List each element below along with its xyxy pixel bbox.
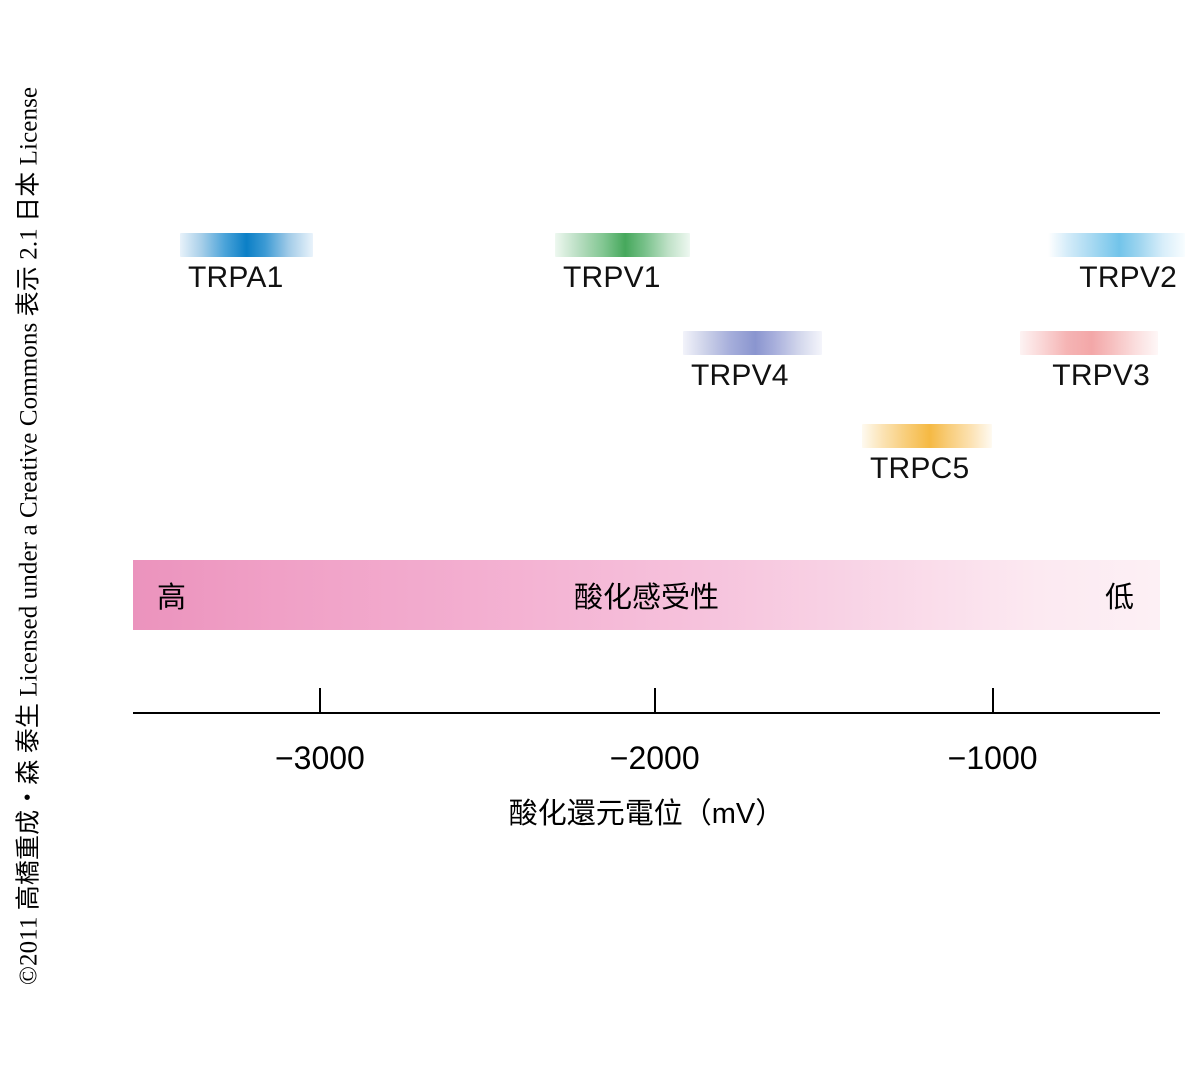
channel-label-trpa1: TRPA1 [188,261,283,295]
trp-redox-diagram: TRPA1TRPV1TRPV2TRPV4TRPV3TRPC5 高 酸化感受性 低… [0,0,1200,1072]
sensitivity-high-label: 高 [157,574,186,616]
channel-range-bar-trpv1 [555,233,690,257]
sensitivity-low-label: 低 [1105,574,1134,616]
axis-title: 酸化還元電位（mV） [133,790,1160,832]
channel-label-trpv4: TRPV4 [691,359,789,393]
axis-tick-label: −2000 [610,740,700,777]
axis-tick-label: −1000 [948,740,1038,777]
axis-tick-mark [992,688,994,714]
oxidation-sensitivity-band: 高 酸化感受性 低 [133,560,1160,630]
channel-label-trpv1: TRPV1 [563,261,661,295]
channel-label-trpv2: TRPV2 [1079,261,1177,295]
channel-label-trpc5: TRPC5 [870,452,969,486]
channel-range-bar-trpv3 [1020,331,1158,355]
channel-label-trpv3: TRPV3 [1052,359,1150,393]
axis-tick-mark [319,688,321,714]
sensitivity-title-label: 酸化感受性 [574,574,719,616]
axis-line [133,712,1160,714]
redox-axis: −3000−2000−1000 [133,712,1160,714]
channel-range-bar-trpa1 [180,233,313,257]
channel-range-bar-trpv4 [683,331,822,355]
channel-range-bar-trpc5 [862,424,992,448]
channel-range-bar-trpv2 [1048,233,1185,257]
axis-tick-mark [654,688,656,714]
axis-tick-label: −3000 [275,740,365,777]
